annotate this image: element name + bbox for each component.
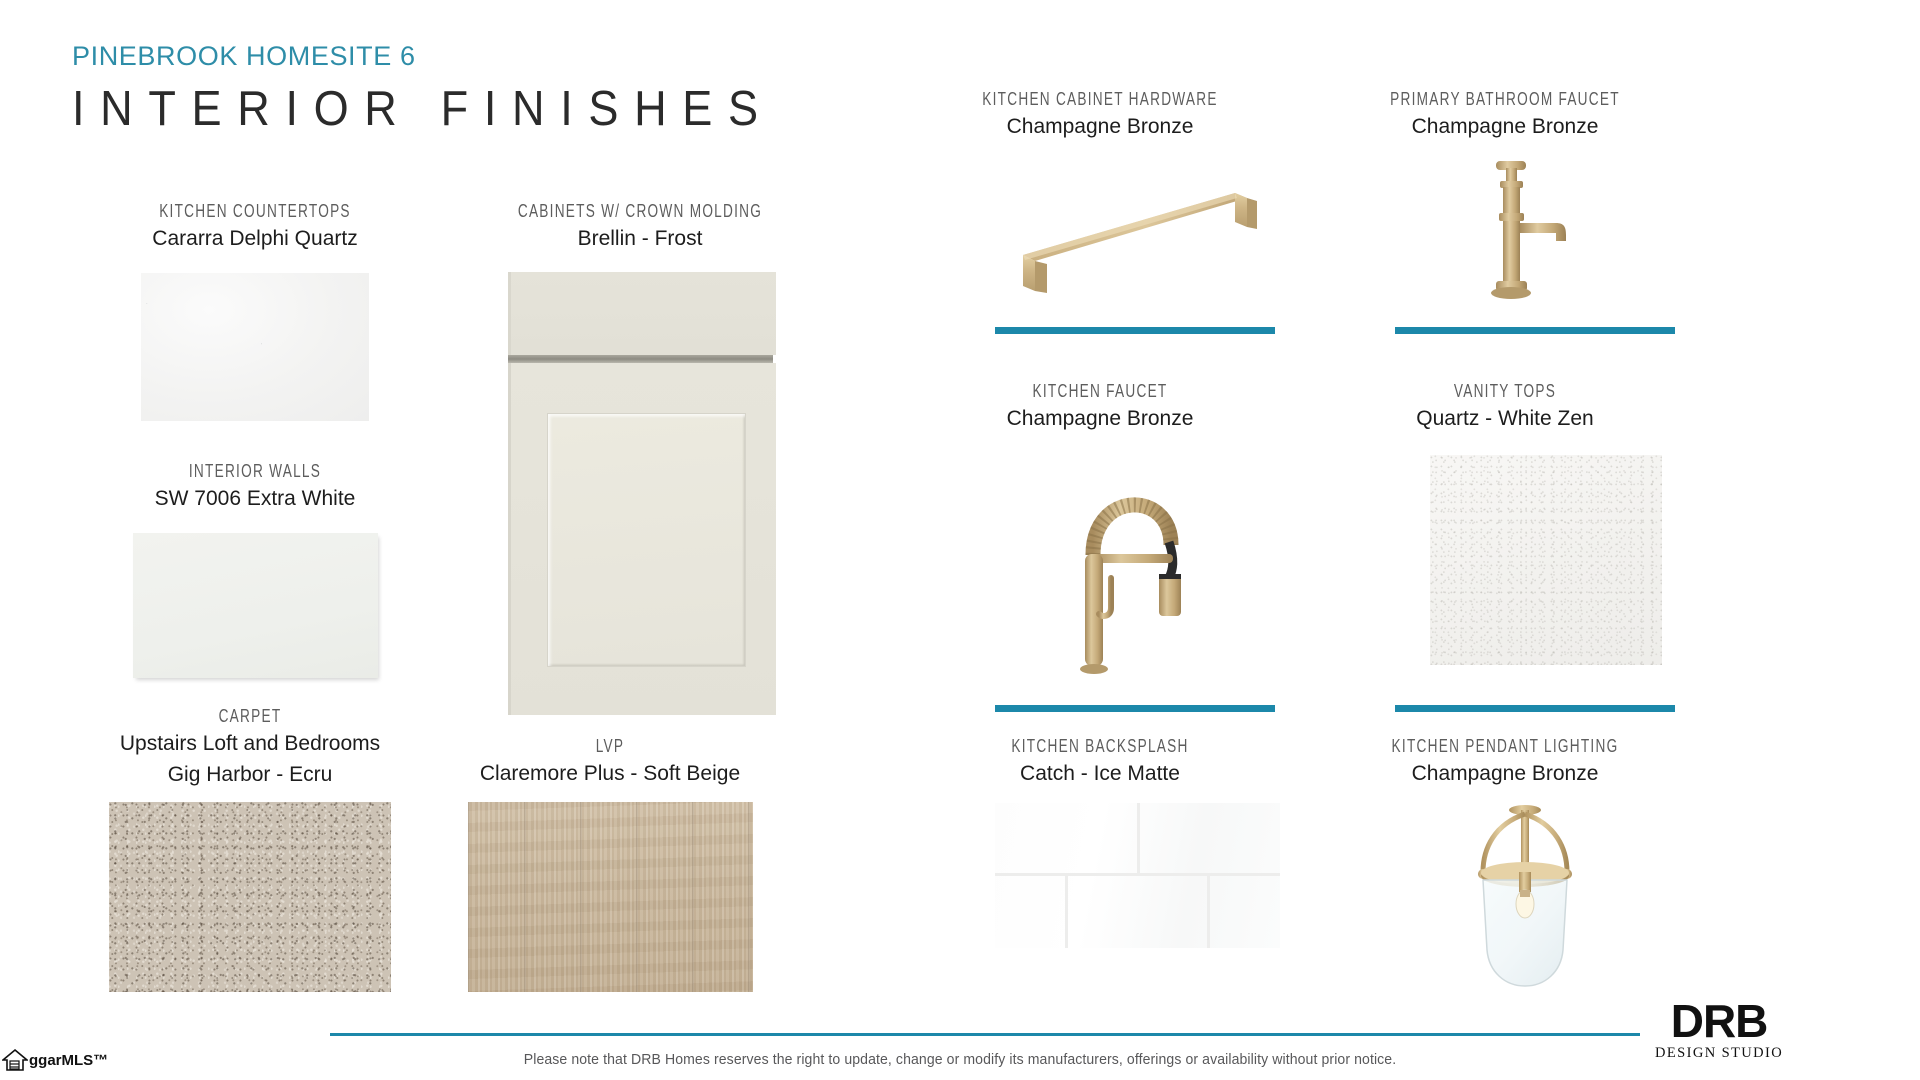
pendant-light-icon	[1465, 800, 1585, 1005]
finish-label: PRIMARY BATHROOM FAUCET	[1372, 88, 1637, 111]
finish-value: Quartz - White Zen	[1335, 405, 1675, 433]
quartz-slab-swatch	[141, 273, 369, 421]
finish-item-pendant-lighting: KITCHEN PENDANT LIGHTING Champagne Bronz…	[1335, 735, 1675, 788]
finish-value: Catch - Ice Matte	[940, 760, 1260, 788]
cabinet-pull-icon	[995, 165, 1265, 300]
finish-value: Champagne Bronze	[940, 113, 1260, 141]
finish-label: KITCHEN COUNTERTOPS	[146, 200, 364, 223]
mls-watermark: ggarMLS™	[2, 1048, 108, 1072]
section-divider	[995, 327, 1275, 334]
drb-design-studio-logo: DRB DESIGN STUDIO	[1655, 1000, 1783, 1062]
finish-item-lvp: LVP Claremore Plus - Soft Beige	[460, 735, 760, 992]
finish-value: Upstairs Loft and Bedrooms	[100, 730, 400, 758]
house-icon	[2, 1048, 28, 1072]
tile-grout-line-vertical-lower2	[1207, 876, 1210, 948]
finish-value-secondary: Gig Harbor - Ecru	[100, 761, 400, 789]
backsplash-tile-swatch	[995, 803, 1280, 948]
finish-item-carpet: CARPET Upstairs Loft and Bedrooms Gig Ha…	[100, 705, 400, 992]
finish-item-vanity-tops: VANITY TOPS Quartz - White Zen	[1335, 380, 1675, 433]
drb-logo-subtitle: DESIGN STUDIO	[1655, 1045, 1783, 1062]
finish-label: VANITY TOPS	[1372, 380, 1637, 403]
finish-item-interior-walls: INTERIOR WALLS SW 7006 Extra White	[115, 460, 395, 678]
cabinet-door-swatch	[508, 272, 773, 715]
community-subtitle: PINEBROOK HOMESITE 6	[72, 42, 835, 72]
finish-item-cabinets: CABINETS W/ CROWN MOLDING Brellin - Fros…	[460, 200, 820, 253]
cabinet-door-front	[508, 363, 776, 715]
cabinet-pull-image	[995, 165, 1265, 300]
finish-item-bathroom-faucet: PRIMARY BATHROOM FAUCET Champagne Bronze	[1335, 88, 1675, 141]
cabinet-drawer-front	[508, 272, 776, 355]
page-header: PINEBROOK HOMESITE 6 INTERIOR FINISHES	[72, 42, 835, 137]
disclaimer-text: Please note that DRB Homes reserves the …	[29, 1052, 1891, 1068]
finish-label: LVP	[493, 735, 727, 758]
finish-item-kitchen-backsplash: KITCHEN BACKSPLASH Catch - Ice Matte	[940, 735, 1260, 788]
section-divider	[1395, 327, 1675, 334]
mls-watermark-label: ggarMLS™	[29, 1052, 108, 1069]
pendant-light-image	[1465, 800, 1585, 1005]
lvp-plank-swatch	[468, 802, 753, 992]
bathroom-faucet-icon	[1460, 155, 1590, 315]
section-divider	[995, 705, 1275, 712]
vanity-quartz-swatch	[1430, 455, 1662, 665]
cabinet-reveal-line	[508, 355, 773, 363]
finish-item-cabinet-hardware: KITCHEN CABINET HARDWARE Champagne Bronz…	[940, 88, 1260, 141]
kitchen-faucet-icon	[1063, 450, 1203, 690]
drb-logo-mark: DRB	[1655, 1000, 1783, 1044]
finish-value: Cararra Delphi Quartz	[115, 225, 395, 253]
finish-label: CABINETS W/ CROWN MOLDING	[500, 200, 781, 223]
kitchen-faucet-image	[1063, 450, 1203, 690]
page-title: INTERIOR FINISHES	[72, 82, 774, 137]
finish-item-kitchen-faucet: KITCHEN FAUCET Champagne Bronze	[940, 380, 1260, 433]
bathroom-faucet-image	[1460, 155, 1590, 315]
finish-value: Claremore Plus - Soft Beige	[460, 760, 760, 788]
tile-grout-line-vertical-lower	[1065, 876, 1068, 948]
finish-value: Champagne Bronze	[940, 405, 1260, 433]
finish-label: INTERIOR WALLS	[146, 460, 364, 483]
finish-label: KITCHEN FAUCET	[975, 380, 1225, 403]
finish-value: SW 7006 Extra White	[115, 485, 395, 513]
tile-grout-line-horizontal	[995, 873, 1280, 876]
finish-label: KITCHEN BACKSPLASH	[975, 735, 1225, 758]
cabinet-recessed-panel	[547, 413, 746, 667]
tile-grout-line-vertical	[1137, 803, 1140, 873]
finish-value: Champagne Bronze	[1335, 113, 1675, 141]
finish-label: KITCHEN CABINET HARDWARE	[975, 88, 1225, 111]
paint-swatch	[133, 533, 378, 678]
finish-item-kitchen-countertops: KITCHEN COUNTERTOPS Cararra Delphi Quart…	[115, 200, 395, 421]
finish-value: Champagne Bronze	[1335, 760, 1675, 788]
finish-value: Brellin - Frost	[460, 225, 820, 253]
finish-label: CARPET	[133, 705, 367, 728]
section-divider	[1395, 705, 1675, 712]
carpet-swatch	[109, 802, 391, 992]
finish-label: KITCHEN PENDANT LIGHTING	[1372, 735, 1637, 758]
footer-divider	[330, 1033, 1640, 1036]
